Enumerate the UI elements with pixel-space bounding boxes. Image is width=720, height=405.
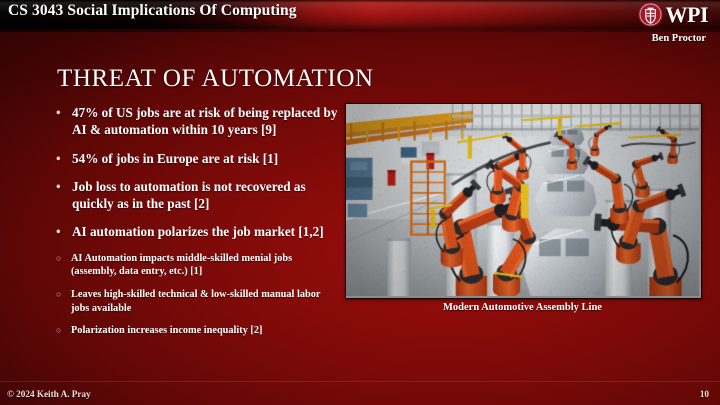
wpi-seal-icon (638, 2, 663, 27)
wpi-logo: WPI (638, 2, 709, 27)
bullet-item: •54% of jobs in Europe are at risk [1] (52, 150, 340, 167)
bullet-marker-icon: • (56, 104, 61, 121)
sub-bullet-text: AI Automation impacts middle-skilled men… (71, 253, 292, 278)
sub-bullet-marker-icon: ○ (56, 324, 61, 338)
sub-bullet-text: Leaves high-skilled technical & low-skil… (71, 289, 320, 314)
sub-bullet-item: ○Leaves high-skilled technical & low-ski… (52, 288, 340, 315)
footer-copyright: © 2024 Keith A. Pray (7, 389, 91, 399)
wpi-wordmark: WPI (666, 4, 709, 26)
bullet-marker-icon: • (56, 150, 61, 167)
photo-caption: Modern Automotive Assembly Line (345, 302, 700, 313)
bullet-item: •47% of US jobs are at risk of being rep… (52, 104, 340, 139)
photo-canvas (346, 104, 699, 296)
bullet-item: •Job loss to automation is not recovered… (52, 178, 340, 213)
presentation-slide: CS 3043 Social Implications Of Computing… (0, 0, 720, 405)
footer-divider (0, 381, 720, 382)
course-title: CS 3043 Social Implications Of Computing (8, 2, 297, 20)
bullet-text: 54% of jobs in Europe are at risk [1] (72, 151, 278, 166)
bullet-marker-icon: • (56, 178, 61, 195)
header-underline (0, 29, 720, 32)
bullet-text: 47% of US jobs are at risk of being repl… (72, 105, 337, 137)
slide-title: THREAT OF AUTOMATION (57, 65, 374, 93)
bullet-item: •AI automation polarizes the job market … (52, 223, 340, 240)
presenter-name: Ben Proctor (652, 33, 706, 44)
sub-bullet-text: Polarization increases income inequality… (71, 325, 262, 336)
bullet-list: •47% of US jobs are at risk of being rep… (52, 104, 340, 347)
bullet-text: AI automation polarizes the job market [… (72, 224, 324, 239)
sub-bullet-item: ○Polarization increases income inequalit… (52, 324, 340, 338)
footer-page-number: 10 (700, 389, 709, 399)
sub-bullet-list: ○AI Automation impacts middle-skilled me… (52, 252, 340, 338)
sub-bullet-marker-icon: ○ (56, 252, 61, 266)
bullet-text: Job loss to automation is not recovered … (72, 179, 306, 211)
automotive-assembly-line-photo (345, 103, 702, 299)
bullet-marker-icon: • (56, 223, 61, 240)
sub-bullet-item: ○AI Automation impacts middle-skilled me… (52, 252, 340, 279)
sub-bullet-marker-icon: ○ (56, 288, 61, 302)
